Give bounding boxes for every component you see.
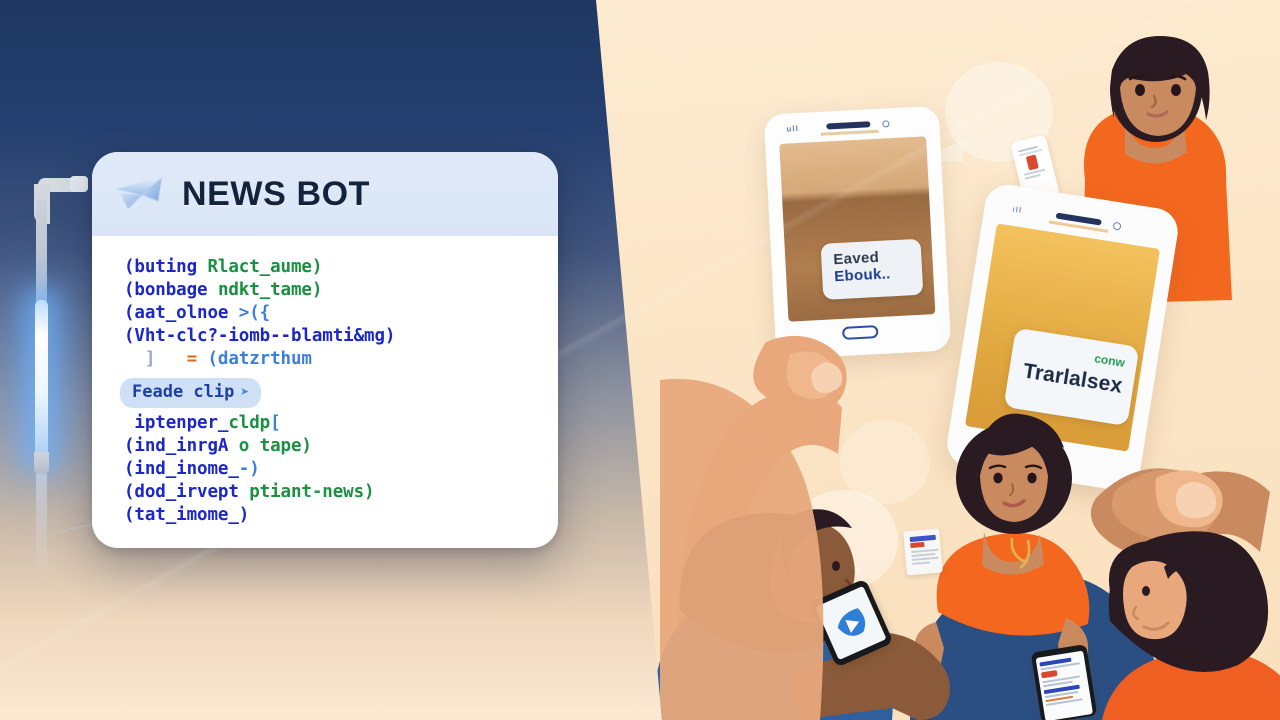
code-line: (tat_imome_) xyxy=(124,504,558,527)
code-token: (buting xyxy=(124,257,208,277)
screenshot-canvas: NEWS BOT (buting Rlact_aume) (bonbage nd… xyxy=(0,0,1280,720)
code-token: (ind_inome_ xyxy=(124,459,239,479)
code-token: (datzrthum xyxy=(208,349,312,369)
code-block: (buting Rlact_aume) (bonbage ndkt_tame) … xyxy=(92,236,558,527)
news-bot-card: NEWS BOT (buting Rlact_aume) (bonbage nd… xyxy=(92,152,558,548)
code-token: (bonbage xyxy=(124,280,218,300)
code-token: (dod_irvept xyxy=(124,482,249,502)
code-token: o tape) xyxy=(239,436,312,456)
street-lamp-foot xyxy=(34,452,49,474)
camera-icon xyxy=(1113,222,1122,231)
phone-signal-label: ıll xyxy=(1012,205,1023,215)
street-lamp-arm-cap xyxy=(70,176,88,192)
mini-phone-bottom-right[interactable] xyxy=(1031,644,1098,720)
chip-label: Feade clip xyxy=(132,381,234,404)
news-headline-accent xyxy=(1041,670,1058,678)
street-lamp-pole xyxy=(36,200,47,310)
code-token: Rlact_aume) xyxy=(208,257,323,277)
phone-signal-label: ull xyxy=(786,124,799,134)
phone-slot xyxy=(821,130,879,136)
street-lamp-glow-tube xyxy=(35,300,48,460)
code-token: >({ xyxy=(239,303,270,323)
code-line: (Vht-clc?-iomb--blamti&mg) xyxy=(124,325,558,348)
code-token: [ xyxy=(270,413,280,433)
mini-phone-screen xyxy=(1036,651,1093,720)
page-title: NEWS BOT xyxy=(182,177,370,211)
code-chip-row: Feade clip ➤ xyxy=(120,378,558,408)
code-line: (ind_inome_-) xyxy=(124,458,558,481)
code-token: ndkt_tame) xyxy=(218,280,322,300)
code-line: (buting Rlact_aume) xyxy=(124,256,558,279)
left-gradient-panel: NEWS BOT (buting Rlact_aume) (bonbage nd… xyxy=(0,0,700,720)
camera-icon xyxy=(882,120,889,127)
code-line: iptenper_cldp[ xyxy=(124,412,558,435)
code-token: = xyxy=(187,349,208,369)
code-token: iptenper_ xyxy=(124,413,228,433)
code-token: (tat_imome_) xyxy=(124,505,249,525)
code-token: cldp xyxy=(228,413,270,433)
card-header: NEWS BOT xyxy=(92,152,558,236)
code-token: (ind_inrgA xyxy=(124,436,239,456)
code-line: (bonbage ndkt_tame) xyxy=(124,279,558,302)
code-line: ] = (datzrthum xyxy=(124,348,558,371)
paper-plane-icon xyxy=(112,171,174,217)
code-token: (aat_olnoe xyxy=(124,303,239,323)
code-token: -) xyxy=(239,459,260,479)
street-lamp-reflection xyxy=(36,474,47,584)
code-token: (Vht-clc?-iomb--blamti&mg) xyxy=(124,326,395,346)
phone-speaker xyxy=(826,121,870,129)
code-line: (ind_inrgA o tape) xyxy=(124,435,558,458)
chevron-right-icon: ➤ xyxy=(240,381,249,404)
code-line: (dod_irvept ptiant-news) xyxy=(124,481,558,504)
feade-clip-chip[interactable]: Feade clip ➤ xyxy=(120,378,261,408)
code-line: (aat_olnoe >({ xyxy=(124,302,558,325)
foreground-arm xyxy=(660,380,940,720)
code-token: ptiant-news) xyxy=(249,482,374,502)
person-bottom-right xyxy=(1080,495,1280,720)
code-token: ] xyxy=(124,349,187,369)
